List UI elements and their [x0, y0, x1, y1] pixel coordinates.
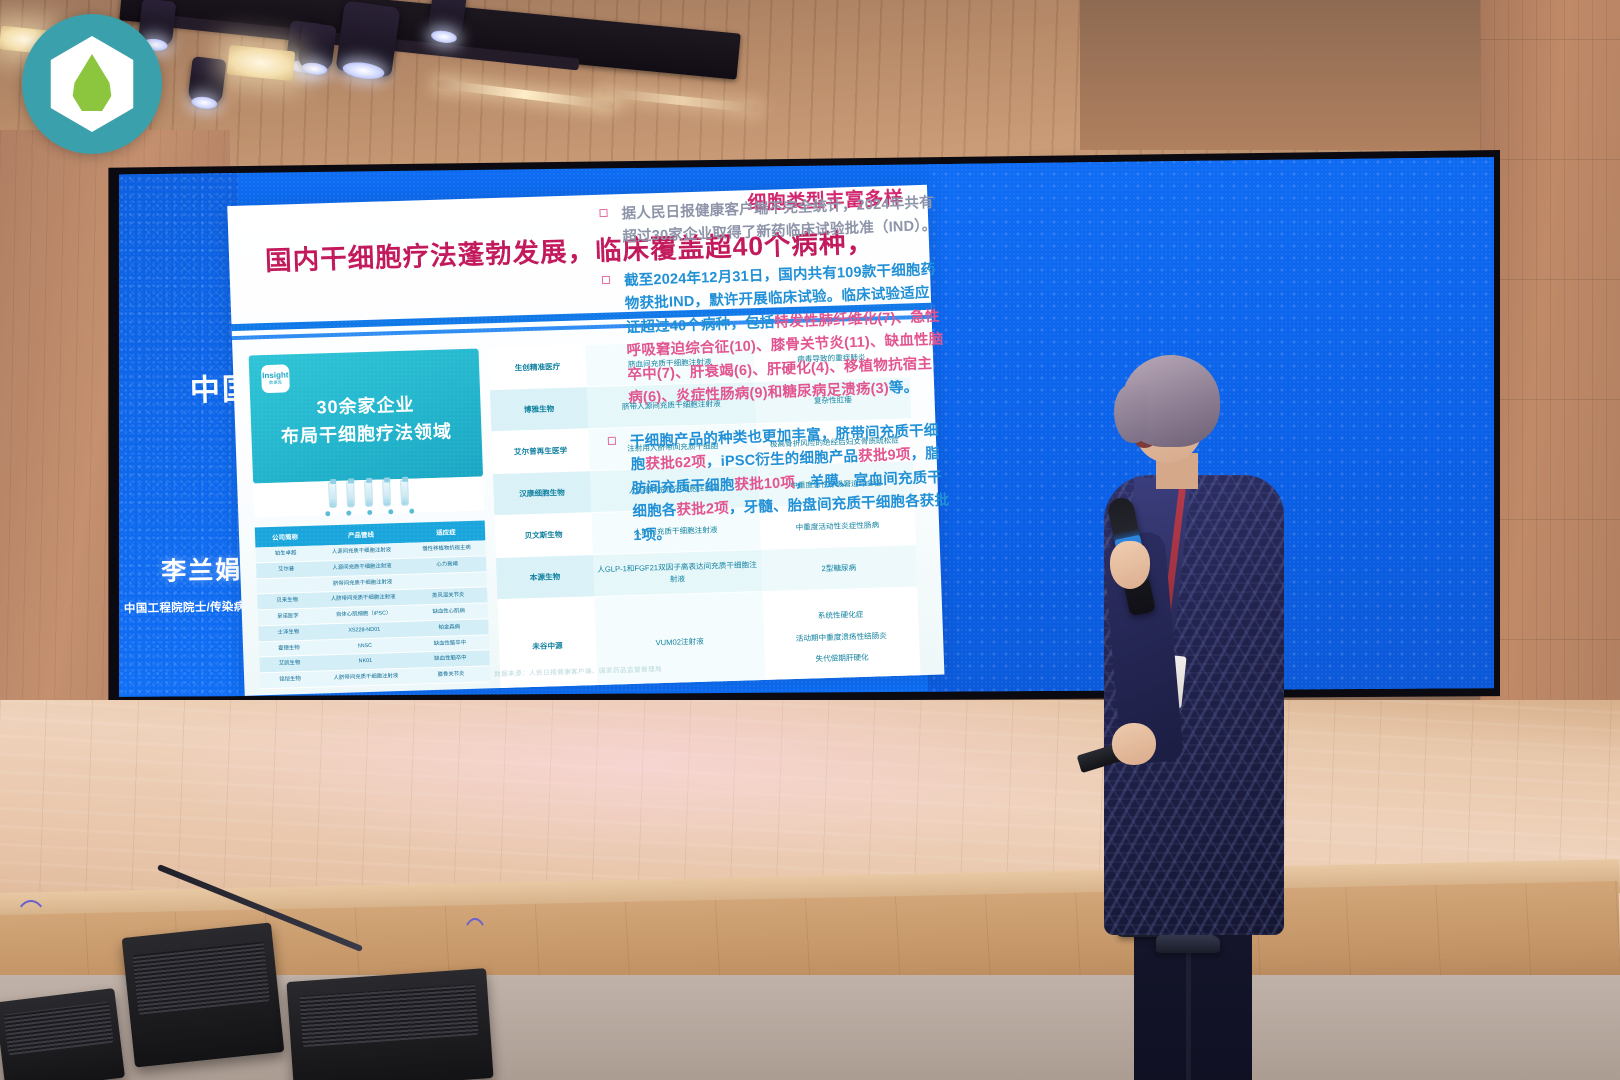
text-bullet: 截至2024年12月31日，国内共有109款干细胞药物获批IND，默许开展临床试… [602, 259, 947, 412]
table-cell: 脐带间充质干细胞注射液 [316, 574, 408, 592]
led-left-blue-panel [108, 156, 238, 699]
table-cell: 人脐带间充质干细胞注射液 [320, 669, 412, 687]
bullet-text-span: 获批9项 [858, 447, 911, 465]
column-header: 适应症 [406, 520, 485, 542]
table-body: 铂生卓越人源间充质干细胞注射液慢性移植物抗宿主病艾尔普人源间充质干细胞注射液心力… [255, 540, 490, 689]
table-cell: 呈诺医学 [258, 609, 318, 626]
vial-icon [364, 481, 373, 507]
insight-database-logo-icon: Insight 数据库 [261, 364, 290, 393]
logo-hex-shape-icon [44, 36, 140, 132]
table-cell: 艾凯生物 [259, 656, 319, 673]
table-cell: XS228-ND01 [318, 622, 410, 640]
table-cell [408, 572, 487, 589]
moving-head-light-icon [335, 0, 400, 77]
table-cell: 类风湿关节炎 [409, 588, 488, 605]
table-cell: 膝骨关节炎 [412, 666, 491, 683]
table-cell: 缺血性脑卒中 [411, 651, 490, 668]
dot-pattern [108, 156, 238, 699]
conference-stage-photo: 李兰娟 中国工程院院士/传染病学专家 李兰娟 中国工程院院士/传染病学专家 国内… [0, 0, 1620, 1080]
table-cell: 缺血性心肌病 [409, 603, 488, 620]
logo-droplet-icon [69, 54, 115, 114]
small-company-table: 公司简称 产品管线 适应症 铂生卓越人源间充质干细胞注射液慢性移植物抗宿主病艾尔… [255, 520, 491, 689]
table-cell-company: 博雅生物 [490, 387, 588, 431]
audio-cable [460, 918, 490, 988]
dot-icon [409, 509, 414, 514]
table-cell: 霍德生物 [259, 640, 319, 657]
vial-icon [328, 482, 337, 508]
bullet-text: 干细胞产品的种类也更加丰富，脐带间充质干细胞获批62项，iPSC衍生的细胞产品获… [630, 419, 952, 548]
table-cell-company: 本源生物 [496, 555, 594, 599]
bullet-text-span: 等。 [889, 380, 919, 397]
logo-subtext: 数据库 [269, 380, 282, 386]
dot-icon [346, 511, 351, 516]
bullet-text-span: 获批2项 [676, 501, 729, 519]
stage-monitor-speaker [0, 988, 125, 1080]
table-cell: 铂生卓越 [255, 546, 315, 563]
stage-monitor-speaker [122, 923, 285, 1068]
person-hand-lower [1112, 723, 1156, 765]
dot-icon [367, 510, 372, 515]
table-cell: 人脐带间充质干细胞注射液 [317, 590, 409, 608]
dot-icon [325, 511, 330, 516]
card-line-2: 布局干细胞疗法领域 [251, 417, 482, 450]
square-bullet-icon [599, 209, 607, 217]
bullet-text-span: 据人民日报健康客户端不完全统计，2024年共有超过30家企业取得了新药临床试验批… [621, 195, 936, 246]
table-cell-company: 贝文斯生物 [494, 513, 592, 557]
stage-light-icon [187, 56, 226, 106]
table-cell: 艾尔普 [256, 561, 316, 578]
column-header: 公司简称 [255, 526, 315, 548]
table-cell: 人源间充质干细胞注射液 [315, 543, 407, 561]
table-cell: 慢性移植物抗宿主病 [407, 540, 486, 557]
table-cell: 贝来生物 [257, 593, 317, 610]
slide-text-panel: 据人民日报健康客户端不完全统计，2024年共有超过30家企业取得了新药临床试验批… [599, 192, 956, 684]
person-hair [1122, 355, 1220, 447]
vial-icon [382, 480, 391, 506]
table-cell: 自体心肌细胞（iPSC） [317, 606, 409, 624]
square-bullet-icon [602, 276, 610, 284]
table-cell-company: 汉康细胞生物 [493, 471, 591, 515]
person-hand-holding-mic [1110, 541, 1150, 589]
bullet-text: 截至2024年12月31日，国内共有109款干细胞药物获批IND，默许开展临床试… [624, 259, 947, 411]
speaker-grill [4, 1001, 114, 1055]
square-bullet-icon [608, 437, 616, 445]
speaker-person [1060, 355, 1290, 975]
table-cell: 人源间充质干细胞注射液 [316, 559, 408, 577]
bullet-text-span: ，iPSC衍生的细胞产品 [706, 449, 859, 471]
table-cell: 铭恺生物 [260, 672, 320, 689]
dot-icon [388, 509, 393, 514]
back-wall-right [1480, 0, 1620, 760]
table-cell [257, 577, 317, 594]
table-cell: NK01 [319, 653, 411, 671]
table-cell: 缺血性脑卒中 [411, 635, 490, 652]
bullet-text-span: 获批10项 [734, 475, 795, 493]
speaker-grill [299, 984, 478, 1047]
bullet-text-span: 获批62项 [645, 455, 706, 473]
vial-icon [400, 480, 409, 506]
table-cell-company: 未谷中源 [498, 597, 598, 695]
speaker-grill [132, 942, 270, 1015]
table-cell: hNSC [319, 637, 411, 655]
brand-logo [22, 14, 162, 154]
table-cell: 心力衰竭 [408, 556, 487, 573]
text-bullet: 干细胞产品的种类也更加丰富，脐带间充质干细胞获批62项，iPSC衍生的细胞产品获… [608, 419, 952, 549]
vial-icon [346, 481, 355, 507]
table-cell: 士泽生物 [258, 624, 318, 641]
stage-monitor-speaker [286, 968, 493, 1080]
column-header: 产品管线 [315, 523, 408, 546]
table-cell: 帕金森病 [410, 619, 489, 636]
audio-cable [14, 900, 48, 952]
table-cell-company: 艾尔普再生医学 [491, 429, 589, 473]
table-cell-company: 生创精准医疗 [488, 345, 586, 389]
stage-light-icon [297, 22, 336, 72]
company-count-card: Insight 数据库 30余家企业 布局干细胞疗法领域 [249, 349, 483, 484]
